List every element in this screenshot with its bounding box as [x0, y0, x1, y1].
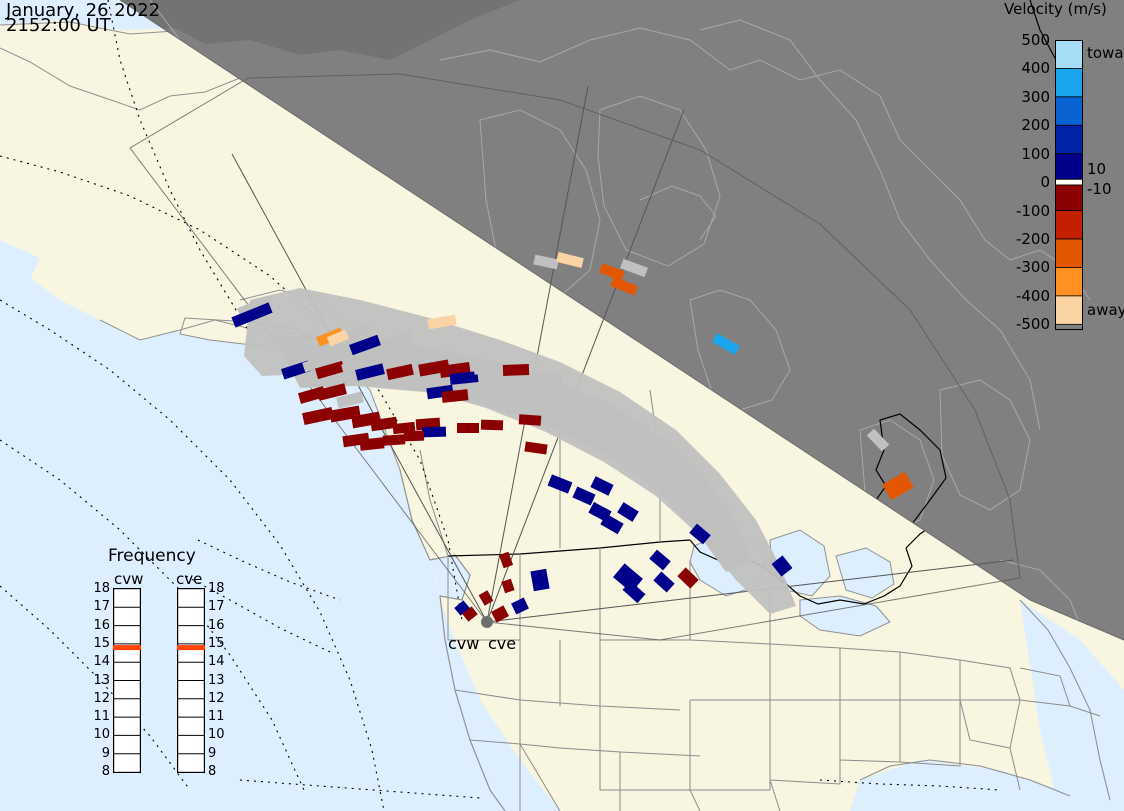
colorbar-tick: -300: [1000, 258, 1050, 276]
frequency-tick-right: 15: [208, 636, 230, 651]
frequency-tick-left: 11: [88, 709, 110, 724]
frequency-tick-right: 14: [208, 654, 230, 669]
velocity-cell: [383, 434, 406, 446]
map-canvas: [0, 0, 1124, 811]
frequency-tick-right: 12: [208, 691, 230, 706]
velocity-cell: [530, 569, 549, 591]
time-label: 2152:00 UT: [6, 17, 111, 35]
colorbar-away-label: away: [1087, 301, 1124, 319]
frequency-tick-left: 15: [88, 636, 110, 651]
frequency-tick-right: 17: [208, 599, 230, 614]
frequency-tick-right: 10: [208, 727, 230, 742]
velocity-cell: [503, 364, 529, 376]
velocity-cell: [481, 420, 503, 431]
frequency-tick-left: 8: [88, 764, 110, 779]
velocity-cell: [404, 431, 424, 442]
frequency-tick-left: 9: [88, 746, 110, 761]
colorbar-tick: 0: [1000, 173, 1050, 191]
site-label-cve: cve: [488, 634, 516, 653]
frequency-tick-left: 17: [88, 599, 110, 614]
frequency-tick-right: 8: [208, 764, 230, 779]
ground-scatter-cell: [534, 373, 562, 384]
frequency-tick-right: 11: [208, 709, 230, 724]
frequency-bar-label-cvw: cvw: [114, 570, 143, 588]
frequency-tick-left: 16: [88, 618, 110, 633]
frequency-tick-right: 9: [208, 746, 230, 761]
colorbar-tick: -200: [1000, 230, 1050, 248]
site-label-cvw: cvw: [448, 634, 479, 653]
frequency-bar-cvw: [113, 588, 141, 773]
frequency-tick-right: 16: [208, 618, 230, 633]
colorbar-tick: 300: [1000, 88, 1050, 106]
colorbar-title: Velocity (m/s): [1004, 2, 1107, 17]
velocity-cell: [457, 423, 479, 433]
ground-scatter-cell: [474, 361, 507, 374]
frequency-tick-left: 18: [88, 581, 110, 596]
velocity-colorbar: [1055, 40, 1083, 330]
colorbar-tick: -100: [1000, 202, 1050, 220]
colorbar-tick: 500: [1000, 31, 1050, 49]
frequency-tick-right: 13: [208, 673, 230, 688]
colorbar-tick: 100: [1000, 145, 1050, 163]
frequency-tick-left: 10: [88, 727, 110, 742]
colorbar-negative-threshold: -10: [1087, 180, 1112, 198]
colorbar-tick: -400: [1000, 287, 1050, 305]
colorbar-tick: 400: [1000, 59, 1050, 77]
frequency-tick-right: 18: [208, 581, 230, 596]
colorbar-tick: -500: [1000, 315, 1050, 333]
colorbar-positive-threshold: 10: [1087, 160, 1106, 178]
frequency-panel-title: Frequency: [108, 548, 196, 565]
frequency-tick-left: 12: [88, 691, 110, 706]
frequency-tick-left: 13: [88, 673, 110, 688]
radar-site-marker: [481, 616, 493, 628]
frequency-bar-label-cve: cve: [176, 570, 202, 588]
frequency-tick-left: 14: [88, 654, 110, 669]
velocity-cell: [422, 427, 446, 438]
velocity-cell: [519, 414, 542, 426]
frequency-bar-cve: [177, 588, 205, 773]
radar-fan-plot: January, 26 2022 2152:00 UT Velocity (m/…: [0, 0, 1124, 811]
colorbar-tick: 200: [1000, 116, 1050, 134]
colorbar-toward-label: toward: [1087, 44, 1124, 62]
